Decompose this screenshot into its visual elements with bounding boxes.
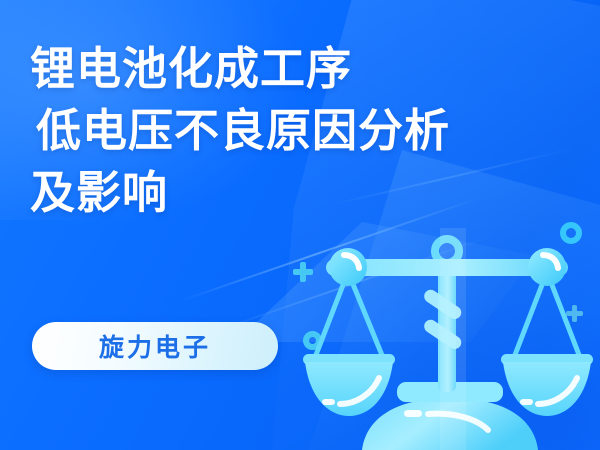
title-line-2: 低电压不良原因分析	[36, 100, 470, 162]
scales-right-knob	[528, 248, 566, 286]
page-title: 锂电池化成工序 低电压不良原因分析 及影响	[0, 38, 470, 224]
poster-canvas: 锂电池化成工序 低电压不良原因分析 及影响 旋力电子	[0, 0, 600, 450]
brand-badge-label: 旋力电子	[99, 328, 211, 364]
scales-left-knob	[329, 248, 367, 286]
balance-scales-illustration	[300, 228, 600, 450]
scales-right-pan	[501, 354, 593, 416]
title-line-3: 及影响	[30, 162, 470, 224]
title-line-1: 锂电池化成工序	[30, 38, 470, 100]
scales-left-pan	[303, 354, 395, 416]
balance-scales-svg	[300, 228, 600, 450]
brand-badge[interactable]: 旋力电子	[32, 322, 278, 370]
